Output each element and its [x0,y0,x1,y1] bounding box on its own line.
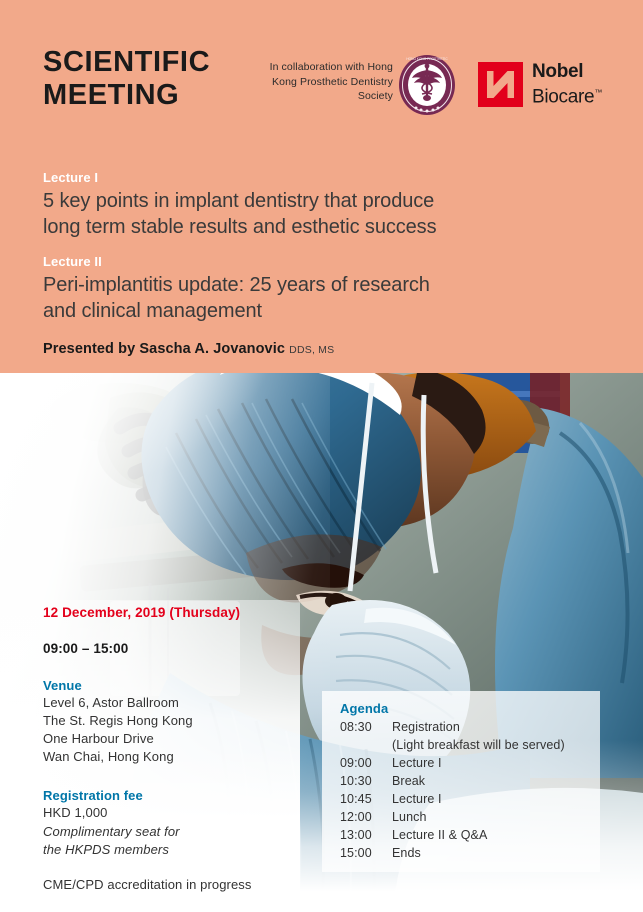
agenda-row-item: Lecture I [392,790,600,808]
agenda-row-subnote: (Light breakfast will be served) [392,736,600,754]
agenda-panel: Agenda 08:30Registration(Light breakfast… [322,691,600,872]
lecture-title-1: 5 key points in implant dentistry that p… [43,188,563,240]
logo-line-2: Biocare [532,86,594,107]
lecture-list: Lecture I 5 key points in implant dentis… [43,170,563,357]
agenda-row-item: Lecture I [392,754,600,772]
svg-text:HONG KONG PROSTHETIC: HONG KONG PROSTHETIC [406,57,448,61]
agenda-row: 10:45Lecture I [340,790,600,808]
lecture-label-2: Lecture II [43,254,563,269]
venue-heading: Venue [43,678,313,693]
agenda-row: 10:30Break [340,772,600,790]
presenter-degrees: DDS, MS [289,344,334,356]
trademark-symbol: ™ [594,88,602,97]
agenda-row-time: 15:00 [340,844,392,862]
agenda-row-time: 13:00 [340,826,392,844]
agenda-row: 13:00Lecture II & Q&A [340,826,600,844]
lecture-title-2: Peri-implantitis update: 25 years of res… [43,272,563,324]
agenda-row-item: Lecture II & Q&A [392,826,600,844]
agenda-row: 15:00Ends [340,844,600,862]
poster: SCIENTIFIC MEETING In collaboration with… [0,0,643,912]
lecture-block-2: Lecture II Peri-implantitis update: 25 y… [43,254,563,324]
agenda-row-time: 10:45 [340,790,392,808]
agenda-row: 12:00Lunch [340,808,600,826]
agenda-row-time: 09:00 [340,754,392,772]
lecture-label-1: Lecture I [43,170,563,185]
event-time: 09:00 – 15:00 [43,641,313,656]
event-date: 12 December, 2019 (Thursday) [43,605,313,620]
agenda-row-item: Lunch [392,808,600,826]
nobel-biocare-mark-icon [478,62,523,107]
agenda-rows: 08:30Registration(Light breakfast will b… [340,718,600,862]
agenda-row-item: Registration [392,718,600,736]
page-title: SCIENTIFIC MEETING [43,46,210,112]
registration-fee-amount: HKD 1,000 [43,804,313,822]
nobel-biocare-logo: Nobel Biocare™ [478,59,602,109]
venue-address: Level 6, Astor Ballroom The St. Regis Ho… [43,694,313,766]
lecture-block-1: Lecture I 5 key points in implant dentis… [43,170,563,240]
nobel-biocare-wordmark: Nobel Biocare™ [532,61,602,107]
hkpds-seal-icon: HONG KONG PROSTHETIC [398,54,456,116]
agenda-row-item: Break [392,772,600,790]
accreditation-note: CME/CPD accreditation in progress [43,877,313,892]
agenda-row: 08:30Registration [340,718,600,736]
agenda-row-time: 10:30 [340,772,392,790]
registration-fee-note: Complimentary seat for the HKPDS members [43,823,313,859]
presenter-line: Presented by Sascha A. Jovanovic DDS, MS [43,341,563,357]
presenter-name: Presented by Sascha A. Jovanovic [43,341,285,357]
agenda-row: 09:00Lecture I [340,754,600,772]
registration-fee-heading: Registration fee [43,788,313,803]
agenda-row-item: Ends [392,844,600,862]
logo-line-1: Nobel [532,61,602,82]
agenda-title: Agenda [340,701,600,716]
collaboration-text: In collaboration with Hong Kong Prosthet… [248,60,393,104]
agenda-row-time: 08:30 [340,718,392,736]
event-details: 12 December, 2019 (Thursday) 09:00 – 15:… [43,605,313,892]
agenda-row-time: 12:00 [340,808,392,826]
header-band: SCIENTIFIC MEETING In collaboration with… [0,0,643,373]
